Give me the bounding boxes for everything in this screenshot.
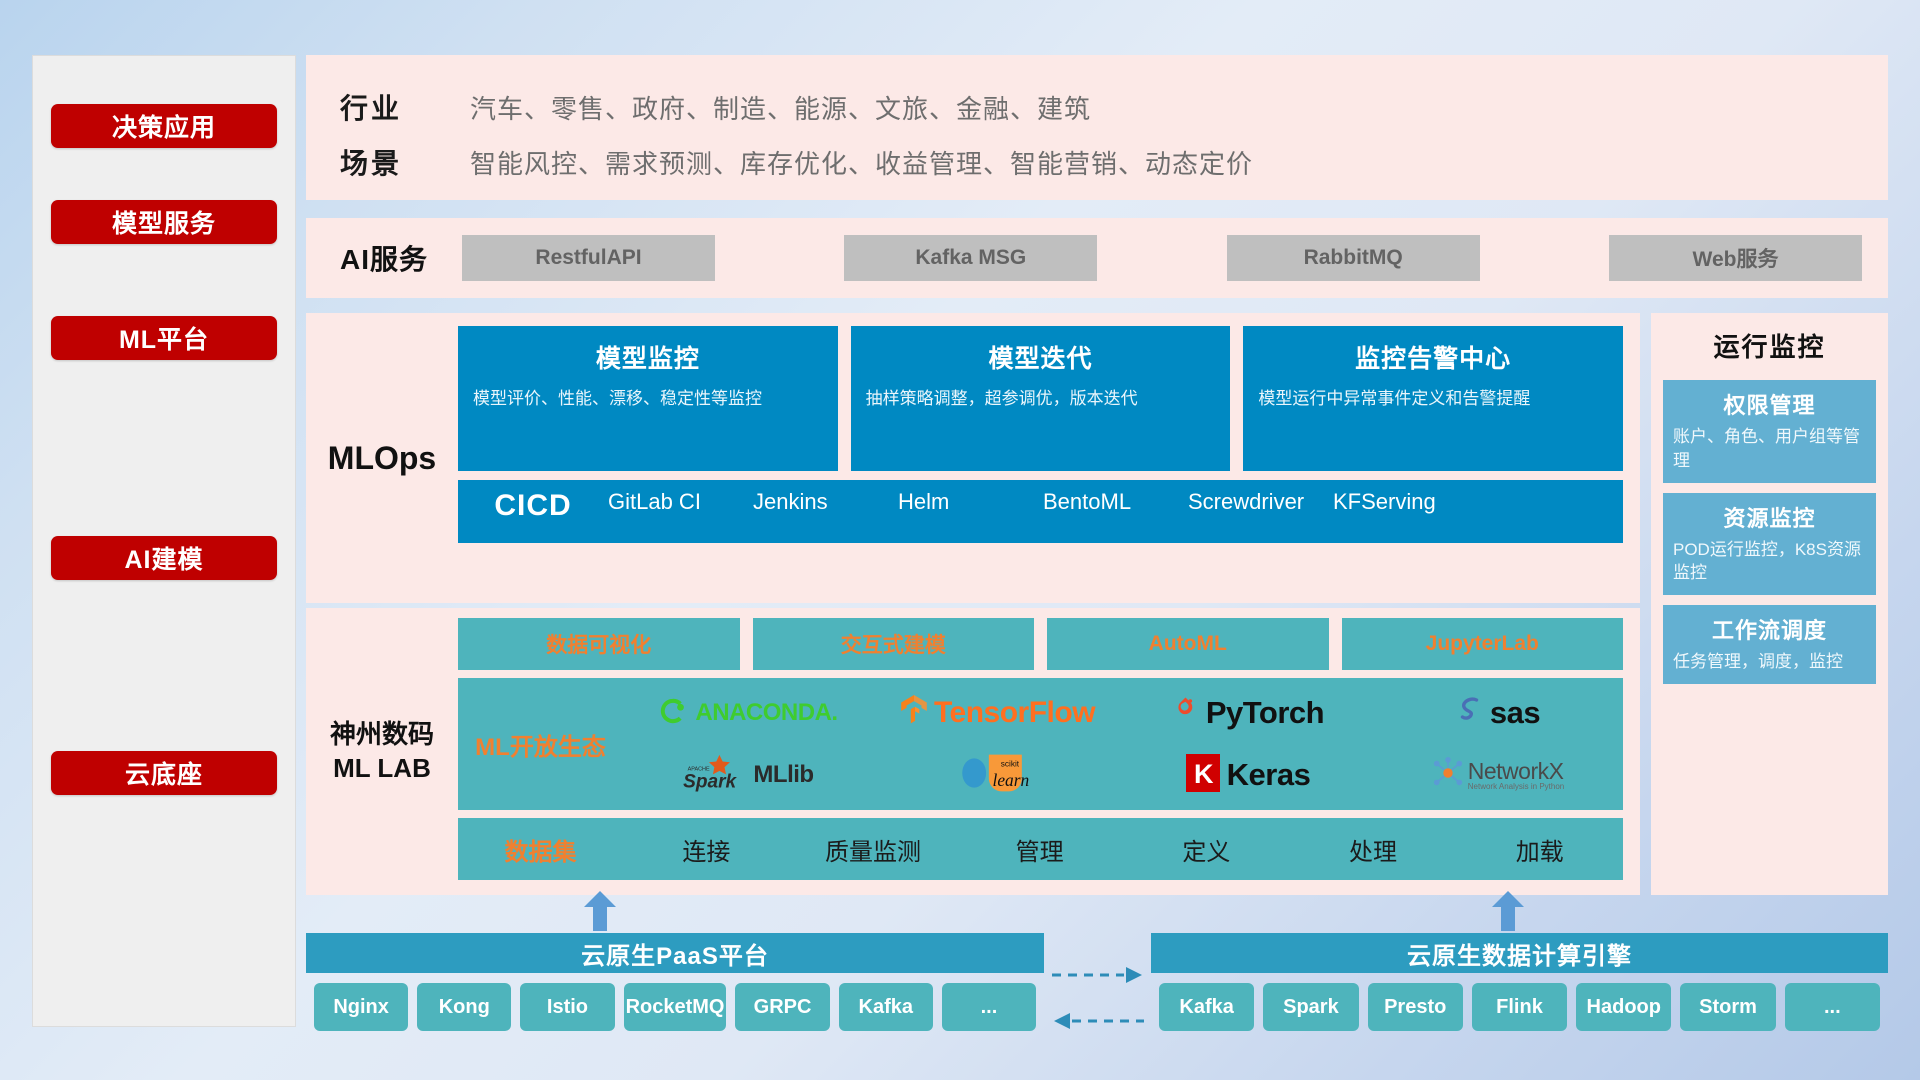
- anaconda-icon: [658, 696, 688, 731]
- scenario-row: 场景 智能风控、需求预测、库存优化、收益管理、智能营销、动态定价: [340, 142, 1253, 182]
- ai-service-chip-restfulapi[interactable]: RestfulAPI: [462, 235, 715, 281]
- card-title: 工作流调度: [1673, 613, 1866, 645]
- paas-chip-more[interactable]: ...: [942, 983, 1036, 1031]
- monitor-card-permission[interactable]: 权限管理 账户、角色、用户组等管理: [1663, 380, 1876, 483]
- bidirectional-link-arrows: [1048, 955, 1148, 1045]
- ai-service-chip-web-service[interactable]: Web服务: [1609, 235, 1862, 281]
- rail-label: 云底座: [125, 755, 203, 791]
- industry-row: 行业 汽车、零售、政府、制造、能源、文旅、金融、建筑: [340, 87, 1091, 127]
- cicd-item-screwdriver[interactable]: Screwdriver: [1188, 489, 1333, 514]
- logo-label: ANACONDA.: [695, 699, 837, 727]
- card-desc: 模型评价、性能、漂移、稳定性等监控: [473, 387, 823, 412]
- paas-chip-kong[interactable]: Kong: [417, 983, 511, 1031]
- tool-chip-list: 数据可视化 交互式建模 AutoML JupyterLab: [458, 618, 1623, 670]
- logo-label: sas: [1490, 695, 1540, 731]
- cicd-item-helm[interactable]: Helm: [898, 489, 1043, 514]
- cicd-item-bentoml[interactable]: BentoML: [1043, 489, 1188, 514]
- card-title: 资源监控: [1673, 501, 1866, 533]
- paas-chip-grpc[interactable]: GRPC: [735, 983, 829, 1031]
- card-desc: 账户、角色、用户组等管理: [1673, 425, 1866, 473]
- decision-app-band: 行业 汽车、零售、政府、制造、能源、文旅、金融、建筑 场景 智能风控、需求预测、…: [306, 55, 1888, 200]
- dataset-item-connect[interactable]: 连接: [623, 832, 790, 867]
- ml-ecosystem-logo-grid: ANACONDA. TensorFlow PyTorch: [623, 682, 1623, 806]
- svg-text:APACHE: APACHE: [688, 766, 710, 772]
- monitor-card-workflow[interactable]: 工作流调度 任务管理，调度，监控: [1663, 605, 1876, 684]
- mlops-card-alert-center[interactable]: 监控告警中心 模型运行中异常事件定义和告警提醒: [1243, 326, 1623, 471]
- card-desc: 模型运行中异常事件定义和告警提醒: [1258, 387, 1608, 412]
- ml-lab-label: 神州数码 ML LAB: [306, 608, 458, 895]
- tool-chip-jupyterlab[interactable]: JupyterLab: [1342, 618, 1624, 670]
- ai-service-chip-list: RestfulAPI Kafka MSG RabbitMQ Web服务: [462, 235, 1888, 281]
- dataset-label: 数据集: [458, 832, 623, 867]
- logo-scikit-learn[interactable]: scikit learn: [873, 744, 1123, 806]
- mlops-card-model-iteration[interactable]: 模型迭代 抽样策略调整，超参调优，版本迭代: [851, 326, 1231, 471]
- svg-text:scikit: scikit: [1001, 759, 1020, 768]
- dataset-row: 数据集 连接 质量监测 管理 定义 处理 加载: [458, 818, 1623, 880]
- monitor-card-resource[interactable]: 资源监控 POD运行监控，K8S资源监控: [1663, 493, 1876, 596]
- tensorflow-icon: [901, 695, 927, 732]
- svg-text:K: K: [1194, 759, 1214, 789]
- rail-label: 决策应用: [112, 108, 216, 144]
- keras-icon: K: [1186, 754, 1220, 797]
- rail-item-decision-app[interactable]: 决策应用: [51, 104, 277, 148]
- card-title: 权限管理: [1673, 388, 1866, 420]
- data-engine-up-arrow-icon: [1486, 891, 1530, 931]
- data-engine-chip-list: Kafka Spark Presto Flink Hadoop Storm ..…: [1151, 973, 1888, 1041]
- tool-chip-interactive-modeling[interactable]: 交互式建模: [753, 618, 1035, 670]
- ml-ecosystem-label: ML开放生态: [458, 727, 623, 762]
- card-desc: 任务管理，调度，监控: [1673, 650, 1866, 674]
- scikit-learn-icon: scikit learn: [959, 751, 1037, 800]
- data-engine-chip-presto[interactable]: Presto: [1368, 983, 1463, 1031]
- ai-service-label: AI服务: [306, 238, 462, 278]
- ai-service-chip-rabbitmq[interactable]: RabbitMQ: [1227, 235, 1480, 281]
- networkx-icon: [1432, 757, 1464, 794]
- industry-value: 汽车、零售、政府、制造、能源、文旅、金融、建筑: [470, 89, 1091, 126]
- dataset-item-manage[interactable]: 管理: [956, 832, 1123, 867]
- card-title: 模型迭代: [866, 339, 1216, 375]
- cloud-native-paas-panel: 云原生PaaS平台 Nginx Kong Istio RocketMQ GRPC…: [306, 933, 1044, 1041]
- logo-sas[interactable]: sas: [1373, 682, 1623, 744]
- scenario-key: 场景: [340, 142, 470, 182]
- run-monitor-panel: 运行监控 权限管理 账户、角色、用户组等管理 资源监控 POD运行监控，K8S资…: [1651, 313, 1888, 895]
- mlops-label: MLOps: [306, 313, 458, 603]
- card-title: 监控告警中心: [1258, 339, 1608, 375]
- run-monitor-title: 运行监控: [1651, 313, 1888, 370]
- paas-chip-rocketmq[interactable]: RocketMQ: [624, 983, 727, 1031]
- rail-item-ai-modeling[interactable]: AI建模: [51, 536, 277, 580]
- cicd-item-jenkins[interactable]: Jenkins: [753, 489, 898, 514]
- ml-platform-band: MLOps 模型监控 模型评价、性能、漂移、稳定性等监控 模型迭代 抽样策略调整…: [306, 313, 1640, 603]
- rail-label: ML平台: [119, 320, 209, 356]
- networkx-tagline: Network Analysis in Python: [1468, 783, 1565, 791]
- rail-label: AI建模: [124, 540, 203, 576]
- dataset-item-process[interactable]: 处理: [1290, 832, 1457, 867]
- mlops-card-model-monitor[interactable]: 模型监控 模型评价、性能、漂移、稳定性等监控: [458, 326, 838, 471]
- ai-service-chip-kafka-msg[interactable]: Kafka MSG: [844, 235, 1097, 281]
- ml-lab-label-line2: ML LAB: [333, 752, 431, 786]
- cicd-bar: CICD GitLab CI Jenkins Helm BentoML Scre…: [458, 480, 1623, 543]
- stack-layer-rail: 决策应用 模型服务 ML平台 AI建模 云底座: [32, 55, 296, 1027]
- logo-anaconda[interactable]: ANACONDA.: [623, 682, 873, 744]
- paas-chip-list: Nginx Kong Istio RocketMQ GRPC Kafka ...: [306, 973, 1044, 1041]
- tool-chip-automl[interactable]: AutoML: [1047, 618, 1329, 670]
- mlops-card-list: 模型监控 模型评价、性能、漂移、稳定性等监控 模型迭代 抽样策略调整，超参调优，…: [458, 326, 1623, 471]
- logo-keras[interactable]: K Keras: [1123, 744, 1373, 806]
- tool-chip-data-visualization[interactable]: 数据可视化: [458, 618, 740, 670]
- data-engine-chip-more[interactable]: ...: [1785, 983, 1880, 1031]
- logo-pytorch[interactable]: PyTorch: [1123, 682, 1373, 744]
- logo-spark-mllib[interactable]: Spark APACHE MLlib: [623, 744, 873, 806]
- card-desc: 抽样策略调整，超参调优，版本迭代: [866, 387, 1216, 412]
- rail-item-model-service[interactable]: 模型服务: [51, 200, 277, 244]
- data-engine-chip-spark[interactable]: Spark: [1263, 983, 1358, 1031]
- paas-chip-nginx[interactable]: Nginx: [314, 983, 408, 1031]
- ml-ecosystem-box: ML开放生态 ANACONDA. TensorFlow: [458, 678, 1623, 810]
- dataset-item-quality-monitor[interactable]: 质量监测: [790, 832, 957, 867]
- data-engine-chip-flink[interactable]: Flink: [1472, 983, 1567, 1031]
- ai-service-band: AI服务 RestfulAPI Kafka MSG RabbitMQ Web服务: [306, 218, 1888, 298]
- scenario-value: 智能风控、需求预测、库存优化、收益管理、智能营销、动态定价: [470, 144, 1253, 181]
- sas-icon: [1456, 696, 1483, 731]
- svg-text:learn: learn: [993, 769, 1030, 789]
- dataset-item-define[interactable]: 定义: [1123, 832, 1290, 867]
- data-engine-chip-hadoop[interactable]: Hadoop: [1576, 983, 1671, 1031]
- industry-key: 行业: [340, 87, 470, 127]
- cicd-item-kfserving[interactable]: KFServing: [1333, 489, 1478, 514]
- logo-label: NetworkX: [1468, 760, 1565, 783]
- cloud-native-data-engine-panel: 云原生数据计算引擎 Kafka Spark Presto Flink Hadoo…: [1151, 933, 1888, 1041]
- logo-label: PyTorch: [1206, 695, 1324, 731]
- ai-modeling-band: 神州数码 ML LAB 数据可视化 交互式建模 AutoML JupyterLa…: [306, 608, 1640, 895]
- data-engine-chip-storm[interactable]: Storm: [1680, 983, 1775, 1031]
- spark-icon: Spark APACHE: [682, 753, 746, 798]
- cicd-item-gitlab-ci[interactable]: GitLab CI: [608, 489, 753, 514]
- logo-label: Keras: [1227, 757, 1311, 793]
- paas-up-arrow-icon: [578, 891, 622, 931]
- paas-chip-kafka[interactable]: Kafka: [839, 983, 933, 1031]
- paas-chip-istio[interactable]: Istio: [520, 983, 614, 1031]
- pytorch-icon: [1172, 696, 1199, 731]
- data-engine-title: 云原生数据计算引擎: [1151, 933, 1888, 973]
- rail-item-ml-platform[interactable]: ML平台: [51, 316, 277, 360]
- logo-label: TensorFlow: [934, 696, 1095, 730]
- ml-lab-label-line1: 神州数码: [330, 718, 434, 752]
- data-engine-chip-kafka[interactable]: Kafka: [1159, 983, 1254, 1031]
- paas-title: 云原生PaaS平台: [306, 933, 1044, 973]
- logo-label: MLlib: [753, 761, 813, 789]
- logo-networkx[interactable]: NetworkX Network Analysis in Python: [1373, 744, 1623, 806]
- logo-tensorflow[interactable]: TensorFlow: [873, 682, 1123, 744]
- card-title: 模型监控: [473, 339, 823, 375]
- rail-item-cloud-base[interactable]: 云底座: [51, 751, 277, 795]
- rail-label: 模型服务: [112, 204, 216, 240]
- svg-text:Spark: Spark: [684, 771, 738, 792]
- card-desc: POD运行监控，K8S资源监控: [1673, 538, 1866, 586]
- dataset-item-load[interactable]: 加载: [1456, 832, 1623, 867]
- cicd-title: CICD: [458, 489, 608, 523]
